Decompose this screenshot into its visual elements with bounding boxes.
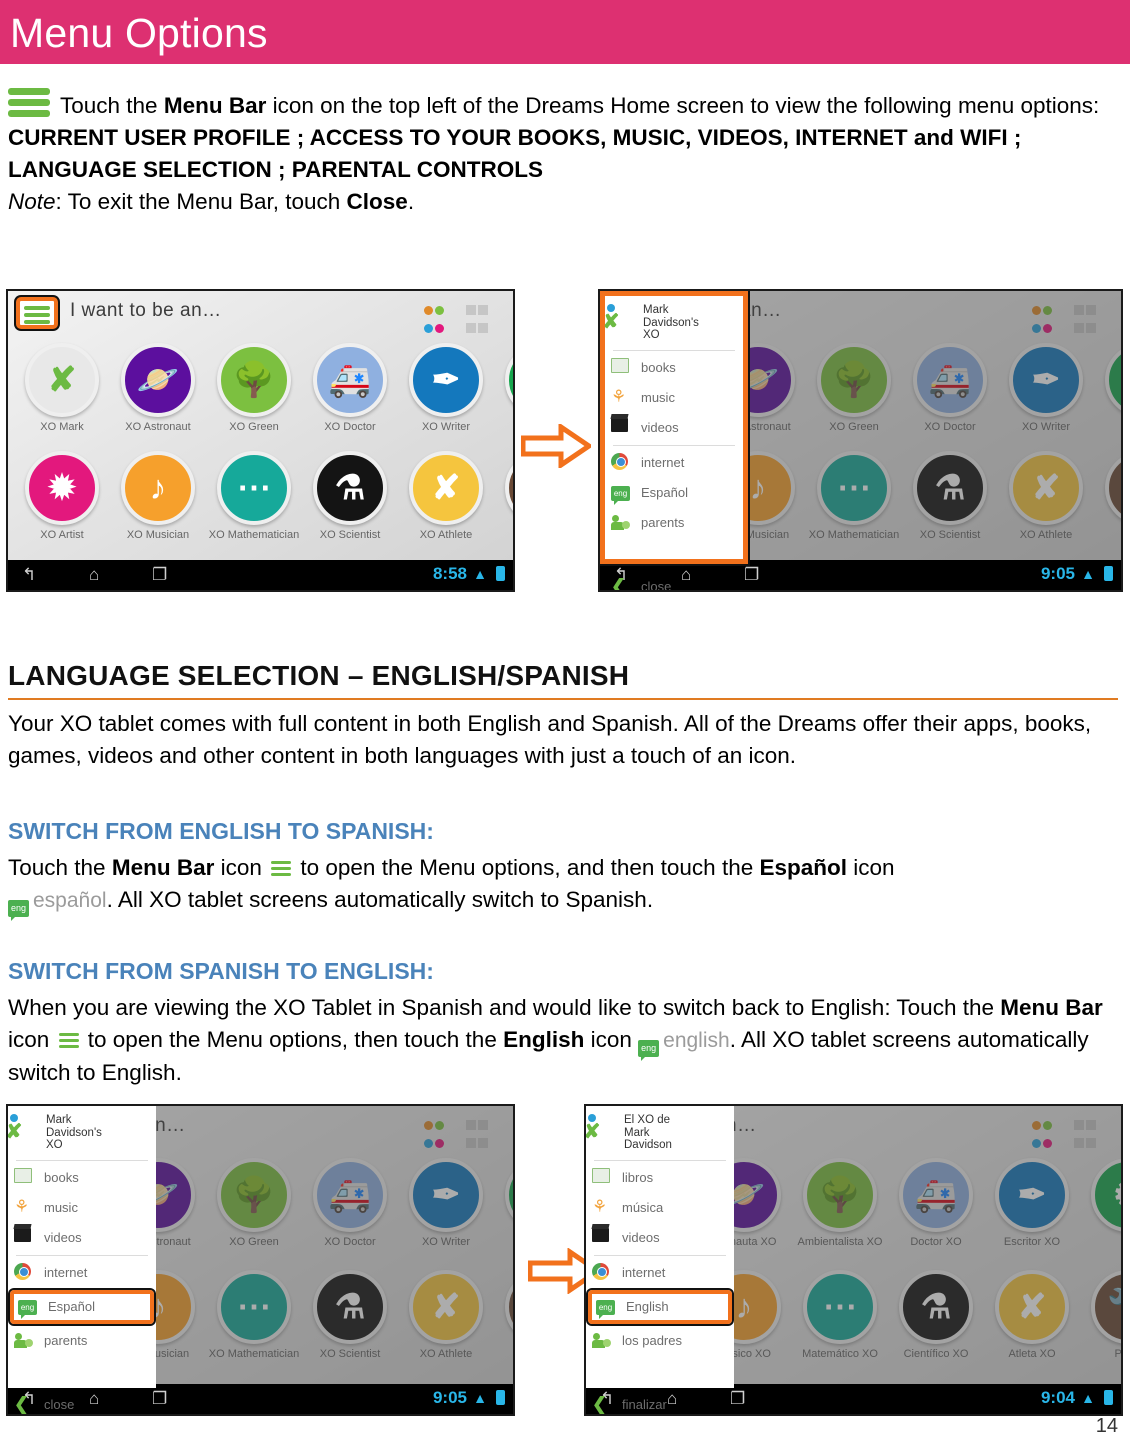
menu-item-label: books — [44, 1170, 79, 1185]
chrome-icon — [611, 453, 633, 473]
menu-item-music[interactable]: ⚘music — [605, 383, 743, 413]
xo-figure-icon: ✘ — [592, 1114, 618, 1144]
status-clock: 9:05 — [433, 1388, 467, 1408]
menu-spacer — [605, 538, 743, 572]
home-app-icon[interactable]: ⚙Ing — [1082, 1158, 1123, 1248]
home-app-icon[interactable]: 🔧XO P — [496, 1270, 515, 1360]
menu-item-books[interactable]: books — [8, 1163, 156, 1193]
book-icon — [611, 358, 633, 378]
parents-icon — [592, 1331, 614, 1351]
grid-view-icon[interactable] — [465, 303, 491, 339]
home-app-label: Ambientalista XO — [794, 1236, 886, 1248]
menu-item-label: parents — [641, 515, 684, 530]
menu-item-label: videos — [641, 420, 679, 435]
menu-divider — [16, 1160, 148, 1161]
home-app-label: XO — [496, 1236, 515, 1248]
home-app-label: XO P — [496, 1348, 515, 1360]
book-icon — [14, 1168, 32, 1183]
tablet-top-bar: I want to be an… — [8, 291, 513, 337]
s2-t2: icon — [8, 1027, 56, 1052]
abacus-icon: ⋯ — [217, 1270, 291, 1344]
tree-icon: 🌳 — [803, 1158, 877, 1232]
home-app-icon[interactable]: 🌳Ambientalista XO — [794, 1158, 886, 1248]
music-note-icon: ♪ — [121, 451, 195, 525]
menu-item-internet[interactable]: internet — [8, 1258, 156, 1288]
instructions-spanish-to-english: When you are viewing the XO Tablet in Sp… — [8, 992, 1120, 1089]
note-text: : To exit the Menu Bar, touch — [56, 189, 347, 214]
ambulance-icon: 🚑 — [913, 343, 987, 417]
document-page: Menu Options Touch the Menu Bar icon on … — [0, 0, 1130, 1444]
menu-panel-english[interactable]: ✘MarkDavidson'sXObooks⚘musicvideosintern… — [8, 1106, 156, 1388]
home-app-icon[interactable]: ⚙XO — [496, 1158, 515, 1248]
menu-panel-english[interactable]: ✘MarkDavidson'sXObooks⚘musicvideosintern… — [600, 291, 748, 564]
section-divider — [8, 698, 1118, 700]
tablet-screenshot-menu-english: an… 🪐XO Astronaut🌳XO Green🚑XO Doctor✒XO … — [598, 289, 1123, 592]
subheading-english-to-spanish: SWITCH FROM ENGLISH TO SPANISH: — [8, 818, 434, 845]
menu-user-name: El XO deMarkDavidson — [624, 1114, 672, 1152]
menu-item-label: internet — [622, 1265, 665, 1280]
engineer-icon: ⚙ — [1105, 343, 1123, 417]
home-app-icon[interactable]: 🔧XO P — [1096, 451, 1123, 541]
menu-item-close[interactable]: ❮close — [8, 1390, 156, 1417]
home-app-label: XO P — [496, 529, 515, 541]
home-app-icon[interactable]: ⚙XO — [496, 343, 515, 433]
menu-item-música[interactable]: ⚘música — [586, 1193, 734, 1223]
menu-divider — [594, 1160, 726, 1161]
page-number: 14 — [1096, 1415, 1118, 1438]
engineer-icon: ⚙ — [505, 1158, 515, 1232]
s1-espanol-bold: Español — [759, 855, 847, 880]
home-app-label: Matemático XO — [794, 1348, 886, 1360]
status-clock: 8:58 — [433, 564, 467, 584]
home-app-label: XO Doctor — [904, 421, 996, 433]
home-app-icon[interactable]: ✘XO Athlete — [400, 1270, 492, 1360]
note-period: . — [408, 189, 414, 214]
video-clapper-icon — [611, 418, 633, 438]
chrome-icon — [14, 1263, 36, 1283]
menu-item-label: music — [44, 1200, 78, 1215]
home-app-icon[interactable]: ✹XO Artist — [16, 451, 108, 541]
flask-icon: ⚗ — [899, 1270, 973, 1344]
menu-user-profile[interactable]: ✘MarkDavidson'sXO — [605, 296, 743, 348]
menu-item-label: internet — [641, 455, 684, 470]
menu-item-label: Español — [641, 485, 688, 500]
video-clapper-icon — [592, 1228, 609, 1242]
menu-item-label: finalizar — [622, 1397, 667, 1412]
wifi-icon: ▲ — [1081, 1390, 1095, 1406]
menu-item-label: parents — [44, 1333, 87, 1348]
english-word-graphic: english — [663, 1029, 730, 1052]
home-app-label: XO Scientist — [904, 529, 996, 541]
language-eng-icon: eng — [18, 1297, 40, 1317]
wrench-icon: 🔧 — [505, 451, 515, 525]
menu-item-label: los padres — [622, 1333, 682, 1348]
home-app-label: XO Mathematician — [208, 1348, 300, 1360]
intro-touch-pre: Touch the — [60, 93, 164, 118]
intro-menu-bar-bold: Menu Bar — [164, 93, 267, 118]
s1-t1: Touch the — [8, 855, 112, 880]
battery-icon — [1104, 566, 1113, 581]
home-app-icon[interactable]: ⚗XO Scientist — [304, 1270, 396, 1360]
menu-item-label: libros — [622, 1170, 653, 1185]
pen-nib-icon: ✒ — [409, 1158, 483, 1232]
menu-user-name: MarkDavidson'sXO — [46, 1114, 102, 1152]
menu-item-label: music — [641, 390, 675, 405]
video-clapper-icon — [14, 1228, 36, 1248]
language-eng-icon: eng — [611, 483, 633, 503]
s2-menu-bar-bold: Menu Bar — [1000, 995, 1103, 1020]
tablet-screenshot-menu-english-highlight: an… 🪐XO Astronaut🌳XO Green🚑XO Doctor✒XO … — [6, 1104, 515, 1416]
engineer-icon: ⚙ — [505, 343, 515, 417]
planet-icon: 🪐 — [121, 343, 195, 417]
home-app-label: Progr — [1082, 1348, 1123, 1360]
menu-item-label: books — [641, 360, 676, 375]
home-app-icon[interactable]: ✒XO Writer — [400, 343, 492, 433]
home-app-label: XO Green — [208, 421, 300, 433]
s2-english-bold: English — [503, 1027, 584, 1052]
home-app-label: XO Athlete — [400, 1348, 492, 1360]
menu-item-label: videos — [622, 1230, 660, 1245]
menu-divider — [613, 350, 735, 351]
home-app-icon[interactable]: 🌳XO Green — [208, 343, 300, 433]
chevron-left-icon: ❮ — [592, 1395, 614, 1415]
s1-t3: to open the Menu options, and then touch… — [294, 855, 759, 880]
wifi-icon: ▲ — [473, 566, 487, 582]
language-eng-icon: eng — [18, 1300, 37, 1315]
laurel-icon: ✘ — [1009, 451, 1083, 525]
home-icon-row-1: ✘XO Mark🪐XO Astronaut🌳XO Green🚑XO Doctor… — [8, 343, 513, 447]
note-label: Note — [8, 189, 56, 214]
language-eng-icon: eng — [596, 1297, 618, 1317]
video-clapper-icon — [592, 1228, 614, 1248]
home-app-label: XO Mathematician — [208, 529, 300, 541]
menu-panel-spanish[interactable]: ✘El XO deMarkDavidsonlibros⚘músicavideos… — [586, 1106, 734, 1388]
chevron-left-icon: ❮ — [611, 577, 626, 593]
home-app-icon[interactable]: 🚑XO Doctor — [304, 343, 396, 433]
home-app-icon[interactable]: ✘XO Mark — [16, 343, 108, 433]
chevron-left-icon: ❮ — [592, 1395, 607, 1413]
home-app-label: XO Artist — [16, 529, 108, 541]
menu-item-label: internet — [44, 1265, 87, 1280]
home-app-icon[interactable]: ✒Escritor XO — [986, 1158, 1078, 1248]
menu-bar-button-highlighted[interactable] — [16, 297, 58, 329]
chrome-icon — [611, 453, 628, 470]
music-icon: ⚘ — [14, 1198, 36, 1218]
chrome-icon — [592, 1263, 614, 1283]
menu-item-label: videos — [44, 1230, 82, 1245]
menu-item-close[interactable]: ❮finalizar — [586, 1390, 734, 1417]
tree-icon: 🌳 — [217, 1158, 291, 1232]
home-app-icon[interactable]: 🪐XO Astronaut — [112, 343, 204, 433]
home-app-icon[interactable]: ⋯XO Mathematician — [208, 1270, 300, 1360]
parents-icon — [14, 1331, 36, 1351]
music-icon: ⚘ — [611, 388, 633, 408]
menu-divider — [594, 1255, 726, 1256]
espanol-word-graphic: español — [33, 889, 107, 912]
menu-spacer — [586, 1356, 734, 1390]
menu-item-videos[interactable]: videos — [605, 413, 743, 443]
ambulance-icon: 🚑 — [313, 343, 387, 417]
chrome-icon — [592, 1263, 609, 1280]
grid-view-icon[interactable] — [1073, 303, 1099, 339]
home-app-label: XO Astronaut — [112, 421, 204, 433]
abacus-icon: ⋯ — [217, 451, 291, 525]
menu-spacer — [8, 1356, 156, 1390]
battery-icon — [496, 1390, 505, 1405]
intro-options-line-2: LANGUAGE SELECTION ; PARENTAL CONTROLS — [8, 154, 1118, 186]
wrench-icon: 🔧 — [1105, 451, 1123, 525]
abacus-icon: ⋯ — [803, 1270, 877, 1344]
menu-item-music[interactable]: ⚘music — [8, 1193, 156, 1223]
flask-icon: ⚗ — [313, 1270, 387, 1344]
home-app-label: XO Scientist — [304, 529, 396, 541]
music-icon: ⚘ — [592, 1198, 614, 1218]
home-app-icon[interactable]: ✒XO Writer — [1000, 343, 1092, 433]
parents-icon — [592, 1331, 612, 1349]
laurel-icon: ✘ — [409, 1270, 483, 1344]
menu-item-videos[interactable]: videos — [586, 1223, 734, 1253]
section-heading-language-selection: LANGUAGE SELECTION – ENGLISH/SPANISH — [8, 660, 629, 692]
tree-icon: 🌳 — [817, 343, 891, 417]
s1-menu-bar-bold: Menu Bar — [112, 855, 215, 880]
menu-item-label: música — [622, 1200, 663, 1215]
menu-item-label: close — [641, 579, 671, 592]
grid-view-icon[interactable] — [465, 1118, 491, 1154]
home-app-icon[interactable]: 🔧Progr — [1082, 1270, 1123, 1360]
tablet-screenshot-home-english: I want to be an… ✘XO Mark🪐XO Astronaut🌳X… — [6, 289, 515, 592]
dots-indicator-icon — [1031, 1118, 1055, 1154]
s2-t1: When you are viewing the XO Tablet in Sp… — [8, 995, 1000, 1020]
language-eng-icon: eng — [596, 1300, 615, 1315]
parents-icon — [611, 513, 633, 533]
language-eng-icon: eng — [611, 486, 630, 501]
tablet-screen: I want to be an… ✘XO Mark🪐XO Astronaut🌳X… — [8, 291, 513, 560]
xo-figure-icon: ✘ — [611, 304, 637, 334]
home-app-icon[interactable]: 🌳XO Green — [808, 343, 900, 433]
abacus-icon: ⋯ — [817, 451, 891, 525]
home-app-label: XO Athlete — [1000, 529, 1092, 541]
menu-item-label: close — [44, 1397, 74, 1412]
battery-icon — [1104, 1390, 1113, 1405]
menu-item-label: Español — [48, 1299, 95, 1314]
menu-divider — [613, 445, 735, 446]
menu-item-label: English — [626, 1299, 669, 1314]
wifi-icon: ▲ — [473, 1390, 487, 1406]
home-app-label: XO — [496, 421, 515, 433]
home-app-label: Doctor XO — [890, 1236, 982, 1248]
menu-item-internet[interactable]: internet — [586, 1258, 734, 1288]
wrench-icon: 🔧 — [505, 1270, 515, 1344]
chrome-icon — [14, 1263, 31, 1280]
nav-back-home-recent-icons[interactable]: ↰ ⌂ ❐ — [22, 565, 191, 585]
menu-item-parents[interactable]: parents — [8, 1326, 156, 1356]
chevron-left-icon: ❮ — [611, 577, 633, 593]
home-app-icon[interactable]: ⋯Matemático XO — [794, 1270, 886, 1360]
menu-item-parents[interactable]: parents — [605, 508, 743, 538]
menu-item-español[interactable]: engEspañol — [10, 1290, 154, 1324]
music-icon: ⚘ — [611, 388, 626, 406]
pen-nib-icon: ✒ — [1009, 343, 1083, 417]
home-app-label: XO Doctor — [304, 421, 396, 433]
battery-icon — [496, 566, 505, 581]
home-app-label: XO Scientist — [304, 1348, 396, 1360]
home-app-label: Ing — [1082, 1236, 1123, 1248]
book-icon — [611, 358, 629, 373]
home-app-icon[interactable]: ♪XO Musician — [112, 451, 204, 541]
menu-divider — [16, 1255, 148, 1256]
menu-item-close[interactable]: ❮close — [605, 572, 743, 593]
pen-nib-icon: ✒ — [409, 343, 483, 417]
engineer-icon: ⚙ — [1091, 1158, 1123, 1232]
laurel-icon: ✘ — [409, 451, 483, 525]
home-app-icon[interactable]: ⚗XO Scientist — [904, 451, 996, 541]
menu-item-books[interactable]: books — [605, 353, 743, 383]
menu-bar-hamburger-icon-inline — [271, 861, 291, 877]
subheading-spanish-to-english: SWITCH FROM SPANISH TO ENGLISH: — [8, 958, 434, 985]
book-icon — [592, 1168, 614, 1188]
intro-note: Note: To exit the Menu Bar, touch Close. — [8, 186, 1118, 218]
music-icon: ⚘ — [14, 1198, 29, 1216]
flask-icon: ⚗ — [313, 451, 387, 525]
android-nav-bar: ↰ ⌂ ❐ 8:58 ▲ — [8, 560, 513, 590]
intro-options-line-1: CURRENT USER PROFILE ; ACCESS TO YOUR BO… — [8, 122, 1118, 154]
home-app-icon[interactable]: 🚑Doctor XO — [890, 1158, 982, 1248]
home-app-label: XO P — [1096, 529, 1123, 541]
intro-block: Touch the Menu Bar icon on the top left … — [8, 88, 1118, 218]
ambulance-icon: 🚑 — [899, 1158, 973, 1232]
menu-user-profile[interactable]: ✘MarkDavidson'sXO — [8, 1106, 156, 1158]
home-app-label: Escritor XO — [986, 1236, 1078, 1248]
home-app-label: Científico XO — [890, 1348, 982, 1360]
dots-indicator-icon — [1031, 303, 1055, 339]
video-clapper-icon — [611, 418, 628, 432]
home-app-icon[interactable]: ✘Atleta XO — [986, 1270, 1078, 1360]
ambulance-icon: 🚑 — [313, 1158, 387, 1232]
video-clapper-icon — [14, 1228, 31, 1242]
home-app-label: Atleta XO — [986, 1348, 1078, 1360]
xo-figure-icon: ✘ — [14, 1114, 40, 1144]
menu-user-profile[interactable]: ✘El XO deMarkDavidson — [586, 1106, 734, 1158]
home-app-icon[interactable]: ⚗Científico XO — [890, 1270, 982, 1360]
flask-icon: ⚗ — [913, 451, 987, 525]
wifi-icon: ▲ — [1081, 566, 1095, 582]
page-title: Menu Options — [10, 4, 268, 62]
menu-bar-hamburger-icon-inline — [59, 1033, 79, 1049]
home-app-icon[interactable]: ⚙XO — [1096, 343, 1123, 433]
home-app-label: XO Green — [808, 421, 900, 433]
menu-bar-hamburger-icon — [8, 88, 50, 118]
xo-figure-icon: ✘ — [25, 343, 99, 417]
pen-nib-icon: ✒ — [995, 1158, 1069, 1232]
home-app-label: XO Athlete — [400, 529, 492, 541]
home-app-icon[interactable]: ✘XO Athlete — [400, 451, 492, 541]
status-clock: 9:05 — [1041, 564, 1075, 584]
book-icon — [14, 1168, 36, 1188]
tablet-screenshot-menu-spanish-highlight: n… 🪐stronauta XO🌳Ambientalista XO🚑Doctor… — [584, 1104, 1123, 1416]
menu-item-libros[interactable]: libros — [586, 1163, 734, 1193]
s2-t4: icon — [584, 1027, 638, 1052]
arrow-right-1 — [521, 424, 591, 468]
book-icon — [592, 1168, 610, 1183]
home-app-icon[interactable]: 🚑XO Doctor — [904, 343, 996, 433]
home-title: I want to be an… — [70, 300, 222, 322]
chevron-left-icon: ❮ — [14, 1395, 36, 1415]
s2-t3: to open the Menu options, then touch the — [82, 1027, 504, 1052]
s1-t2: icon — [214, 855, 268, 880]
home-app-icon[interactable]: ✘XO Athlete — [1000, 451, 1092, 541]
home-app-label: XO Doctor — [304, 1236, 396, 1248]
paint-splat-icon: ✹ — [25, 451, 99, 525]
home-app-icon[interactable]: 🚑XO Doctor — [304, 1158, 396, 1248]
home-app-label: XO Mathematician — [808, 529, 900, 541]
home-app-label: XO — [1096, 421, 1123, 433]
home-app-icon[interactable]: ⋯XO Mathematician — [808, 451, 900, 541]
home-app-icon[interactable]: 🔧XO P — [496, 451, 515, 541]
s1-t5: . All XO tablet screens automatically sw… — [107, 887, 654, 912]
home-app-icon[interactable]: 🌳XO Green — [208, 1158, 300, 1248]
home-app-icon[interactable]: ⋯XO Mathematician — [208, 451, 300, 541]
language-eng-badge-icon: eng — [8, 900, 29, 917]
dots-indicator-icon — [423, 303, 447, 339]
home-app-label: XO Writer — [1000, 421, 1092, 433]
home-app-label: XO Musician — [112, 529, 204, 541]
home-icon-row-2: ✹XO Artist♪XO Musician⋯XO Mathematician⚗… — [8, 451, 513, 555]
intro-paragraph: Touch the Menu Bar icon on the top left … — [8, 88, 1118, 122]
home-app-icon[interactable]: ✒XO Writer — [400, 1158, 492, 1248]
section-paragraph: Your XO tablet comes with full content i… — [8, 708, 1120, 772]
home-app-label: XO Writer — [400, 1236, 492, 1248]
status-clock: 9:04 — [1041, 1388, 1075, 1408]
menu-item-english[interactable]: engEnglish — [588, 1290, 732, 1324]
music-icon: ⚘ — [592, 1198, 607, 1216]
s1-t4: icon — [847, 855, 895, 880]
menu-item-los-padres[interactable]: los padres — [586, 1326, 734, 1356]
menu-item-internet[interactable]: internet — [605, 448, 743, 478]
menu-item-español[interactable]: engEspañol — [605, 478, 743, 508]
parents-icon — [14, 1331, 34, 1349]
wrench-icon: 🔧 — [1091, 1270, 1123, 1344]
menu-item-videos[interactable]: videos — [8, 1223, 156, 1253]
home-app-label: XO Green — [208, 1236, 300, 1248]
menu-user-name: MarkDavidson'sXO — [643, 304, 699, 342]
note-bold-close: Close — [347, 189, 408, 214]
language-eng-badge-icon: eng — [638, 1040, 659, 1057]
grid-view-icon[interactable] — [1073, 1118, 1099, 1154]
tree-icon: 🌳 — [217, 343, 291, 417]
home-app-icon[interactable]: ⚗XO Scientist — [304, 451, 396, 541]
parents-icon — [611, 513, 631, 531]
home-app-label: XO Writer — [400, 421, 492, 433]
chevron-left-icon: ❮ — [14, 1395, 29, 1413]
laurel-icon: ✘ — [995, 1270, 1069, 1344]
intro-touch-post: icon on the top left of the Dreams Home … — [266, 93, 1099, 118]
home-app-label: XO Mark — [16, 421, 108, 433]
dots-indicator-icon — [423, 1118, 447, 1154]
instructions-english-to-spanish: Touch the Menu Bar icon to open the Menu… — [8, 852, 1120, 917]
